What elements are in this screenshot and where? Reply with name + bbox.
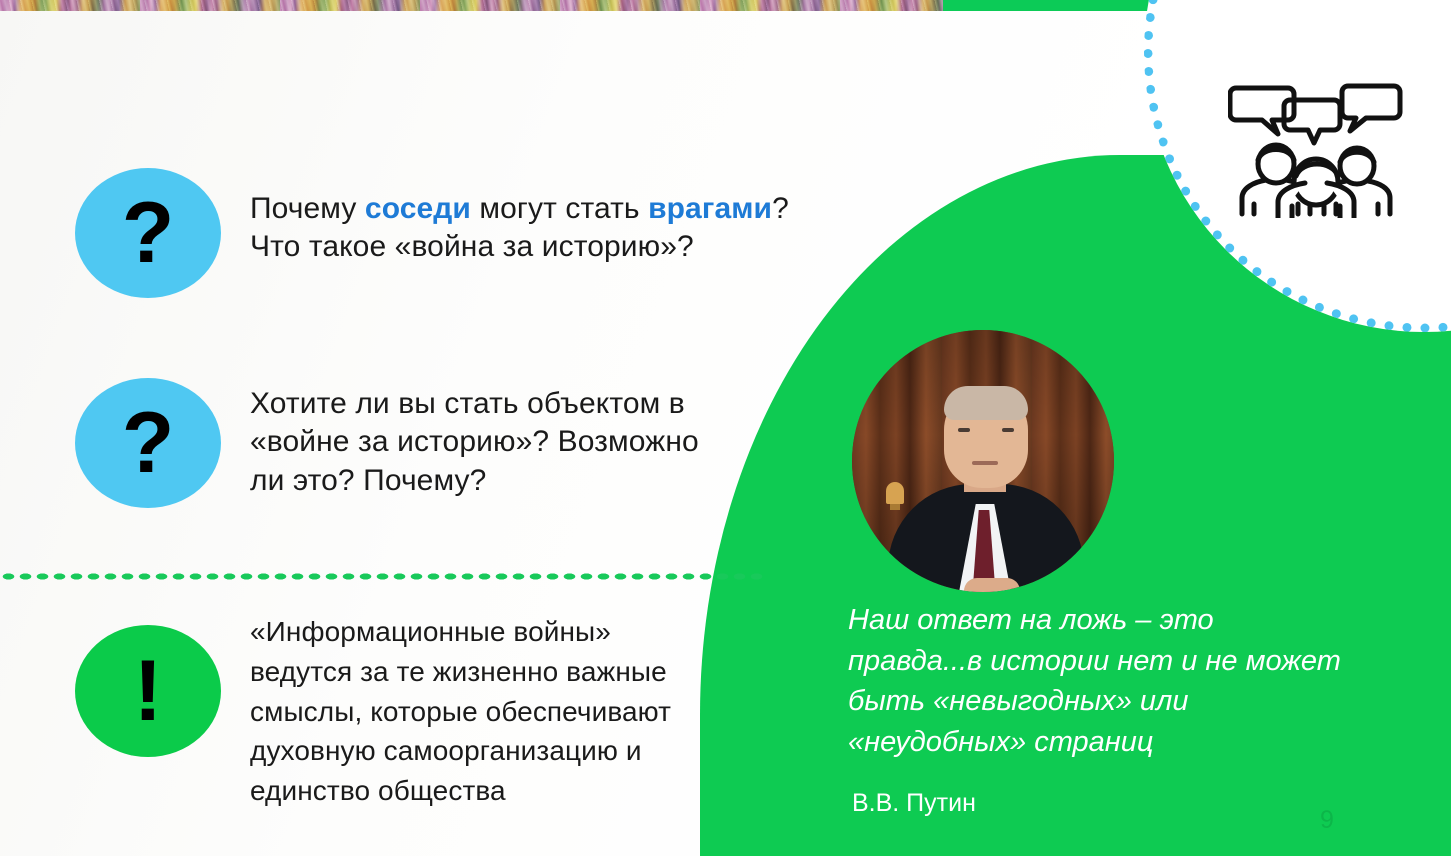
question-text-1-line-1: Почему соседи могут стать врагами? <box>250 190 950 228</box>
portrait-mouth <box>972 461 998 465</box>
exclamation-marker: ! <box>75 625 221 757</box>
exclamation-mark-glyph: ! <box>134 648 163 734</box>
question-marker-1: ? <box>75 168 221 298</box>
portrait-eye-left <box>958 428 970 432</box>
portrait-eye-right <box>1002 428 1014 432</box>
question-marker-2: ? <box>75 378 221 508</box>
quote-line-2: правда...в истории нет и не может <box>848 641 1408 682</box>
portrait-photo <box>852 330 1114 592</box>
highlight-word-enemies: врагами <box>648 192 772 225</box>
portrait-hands <box>964 578 1020 592</box>
slide-canvas: ? ? ! Почему соседи могут стать врагами?… <box>0 0 1451 856</box>
note-text-line-5: единство общества <box>250 771 750 811</box>
slide-number: 9 <box>1320 806 1334 835</box>
highlight-word-neighbors: соседи <box>365 192 471 225</box>
note-text-line-2: ведутся за те жизненно важные <box>250 652 750 692</box>
question-text-1: Почему соседи могут стать врагами? Что т… <box>250 190 950 267</box>
quote-author: В.В. Путин <box>852 789 976 818</box>
text-run: Почему <box>250 192 365 225</box>
question-text-2-line-2: «войне за историю»? Возможно <box>250 423 830 461</box>
quote-line-3: быть «невыгодных» или <box>848 681 1408 722</box>
quote-line-1: Наш ответ на ложь – это <box>848 600 1408 641</box>
portrait-hair <box>944 386 1028 420</box>
question-mark-glyph: ? <box>122 400 175 486</box>
portrait-lamp <box>886 482 904 504</box>
question-text-1-line-2: Что такое «война за историю»? <box>250 228 950 266</box>
dotted-divider <box>0 572 765 581</box>
quote-line-4: «неудобных» страниц <box>848 722 1408 763</box>
question-text-2: Хотите ли вы стать объектом в «войне за … <box>250 385 830 500</box>
quote-text: Наш ответ на ложь – это правда...в истор… <box>848 600 1408 762</box>
question-mark-glyph: ? <box>122 190 175 276</box>
text-run: ? <box>772 192 789 225</box>
people-discussion-icon <box>1228 78 1408 218</box>
question-text-2-line-3: ли это? Почему? <box>250 462 830 500</box>
note-text: «Информационные войны» ведутся за те жиз… <box>250 612 750 811</box>
note-text-line-4: духовную самоорганизацию и <box>250 731 750 771</box>
note-text-line-3: смыслы, которые обеспечивают <box>250 692 750 732</box>
adjacent-page-strip <box>0 0 943 11</box>
text-run: могут стать <box>471 192 648 225</box>
green-background-fill <box>1120 300 1451 856</box>
note-text-line-1: «Информационные войны» <box>250 612 750 652</box>
question-text-2-line-1: Хотите ли вы стать объектом в <box>250 385 830 423</box>
